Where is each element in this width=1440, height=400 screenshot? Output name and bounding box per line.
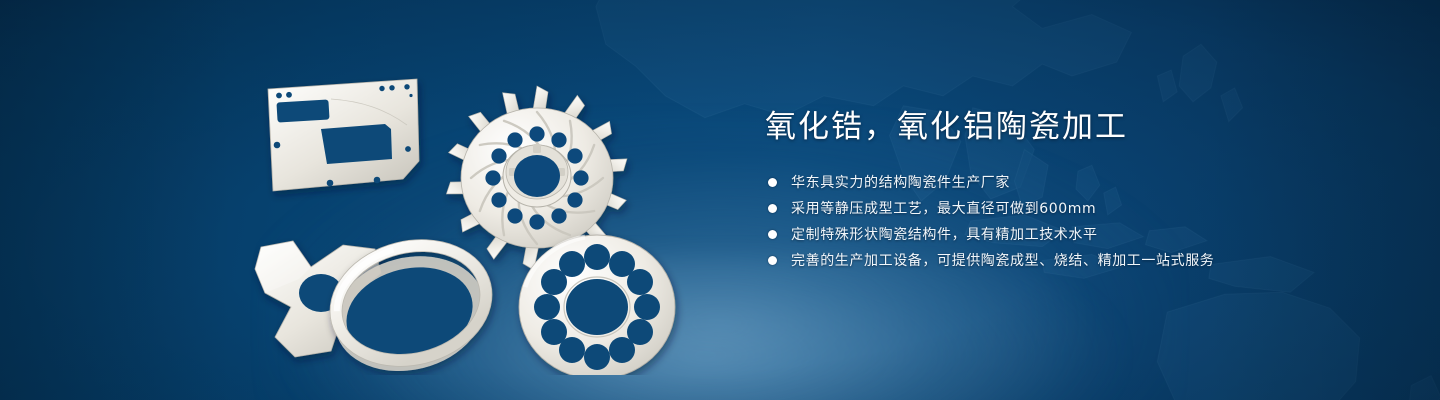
ceramic-flat-plate <box>268 79 419 191</box>
bullet-dot-icon <box>768 178 777 187</box>
feature-text: 定制特殊形状陶瓷结构件，具有精加工技术水平 <box>791 225 1098 245</box>
bullet-dot-icon <box>768 256 777 265</box>
banner-copy: 氧化锆，氧化铝陶瓷加工 华东具实力的结构陶瓷件生产厂家 采用等静压成型工艺，最大… <box>765 108 1365 277</box>
feature-text: 采用等静压成型工艺，最大直径可做到600mm <box>791 199 1096 219</box>
list-item: 完善的生产加工设备，可提供陶瓷成型、烧结、精加工一站式服务 <box>768 251 1365 271</box>
list-item: 采用等静压成型工艺，最大直径可做到600mm <box>768 199 1365 219</box>
product-photo-group <box>235 45 705 375</box>
banner-headline: 氧化锆，氧化铝陶瓷加工 <box>765 108 1365 147</box>
feature-list: 华东具实力的结构陶瓷件生产厂家 采用等静压成型工艺，最大直径可做到600mm 定… <box>768 173 1365 271</box>
promo-banner: 氧化锆，氧化铝陶瓷加工 华东具实力的结构陶瓷件生产厂家 采用等静压成型工艺，最大… <box>0 0 1440 400</box>
list-item: 华东具实力的结构陶瓷件生产厂家 <box>768 173 1365 193</box>
feature-text: 华东具实力的结构陶瓷件生产厂家 <box>791 173 1010 193</box>
bullet-dot-icon <box>768 204 777 213</box>
ceramic-perforated-disc <box>519 235 675 375</box>
bullet-dot-icon <box>768 230 777 239</box>
list-item: 定制特殊形状陶瓷结构件，具有精加工技术水平 <box>768 225 1365 245</box>
feature-text: 完善的生产加工设备，可提供陶瓷成型、烧结、精加工一站式服务 <box>791 251 1214 271</box>
